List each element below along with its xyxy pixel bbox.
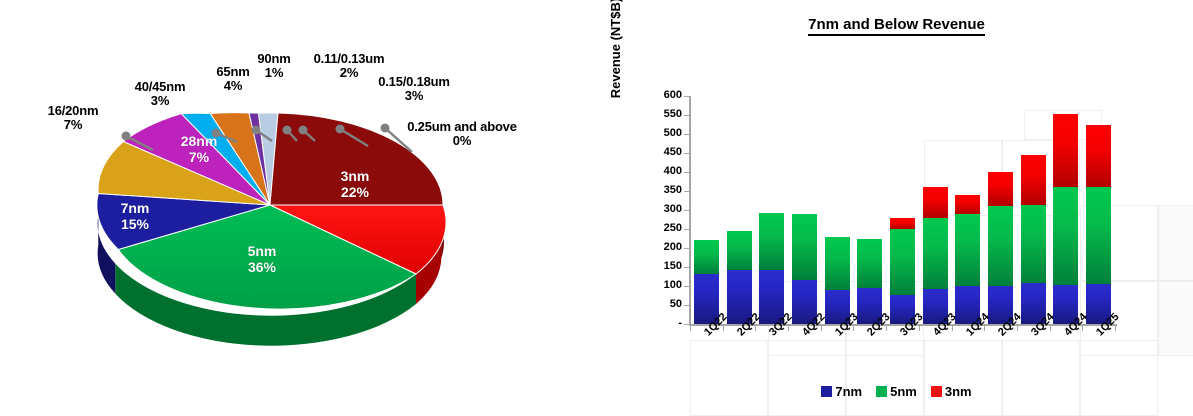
bar-1q22[interactable] <box>694 96 719 324</box>
y-tick-label: 600 <box>640 89 682 101</box>
bar-chart-title: 7nm and Below Revenue <box>600 16 1193 33</box>
bar-plot-area <box>690 96 1115 324</box>
bar-3q22[interactable] <box>759 96 784 324</box>
bar-1q24[interactable] <box>955 96 980 324</box>
bar-chart-title-text: 7nm and Below Revenue <box>808 16 985 36</box>
bar-3q23[interactable] <box>890 96 915 324</box>
x-tick-mark <box>886 326 887 331</box>
y-tick-label: 400 <box>640 165 682 177</box>
pie-label-text: 0.25um and above <box>407 119 517 134</box>
bar-segment-3nm-4q24 <box>1053 114 1078 187</box>
y-tick-label: 300 <box>640 203 682 215</box>
bar-segment-5nm-1q23 <box>825 237 850 291</box>
y-tick-label: - <box>640 317 682 329</box>
bar-3q24[interactable] <box>1021 96 1046 324</box>
y-tick-label: 50 <box>640 298 682 310</box>
pie-label-pct: 36% <box>227 259 297 275</box>
y-tick-mark <box>684 172 689 173</box>
bar-segment-5nm-2q23 <box>857 239 882 288</box>
x-tick-mark <box>853 326 854 331</box>
y-tick-mark <box>684 248 689 249</box>
y-tick-label: 450 <box>640 146 682 158</box>
bar-segment-5nm-4q23 <box>923 218 948 290</box>
y-tick-label: 250 <box>640 222 682 234</box>
x-tick-mark <box>984 326 985 331</box>
legend-label-7nm: 7nm <box>835 384 862 399</box>
pie-label-16-20nm: 16/20nm 7% <box>18 104 128 132</box>
pie-label-text: 0.15/0.18um <box>378 74 450 89</box>
y-tick-mark <box>684 210 689 211</box>
x-tick-mark <box>755 326 756 331</box>
y-tick-mark <box>684 153 689 154</box>
bar-segment-5nm-1q22 <box>694 240 719 274</box>
y-tick-label: 350 <box>640 184 682 196</box>
pie-inner-label-3nm: 3nm 22% <box>320 168 390 200</box>
pie-label-text: 28nm <box>181 133 218 149</box>
pie-label-text: 0.11/0.13um <box>314 51 385 66</box>
pie-label-pct: 7% <box>162 149 236 165</box>
bar-segment-3nm-3q23 <box>890 218 915 229</box>
y-tick-label: 550 <box>640 108 682 120</box>
bar-2q23[interactable] <box>857 96 882 324</box>
bar-segment-3nm-1q25 <box>1086 125 1111 187</box>
bar-1q23[interactable] <box>825 96 850 324</box>
y-tick-mark <box>684 115 689 116</box>
y-tick-label: 150 <box>640 260 682 272</box>
pie-label-pct: 15% <box>104 216 166 232</box>
pie-label-pct: 0% <box>370 134 554 148</box>
pie-label-text: 40/45nm <box>135 79 186 94</box>
bar-segment-3nm-2q24 <box>988 172 1013 206</box>
pie-label-text: 3nm <box>341 168 370 184</box>
pie-label-pct: 22% <box>320 184 390 200</box>
bar-segment-5nm-3q24 <box>1021 205 1046 283</box>
bar-2q24[interactable] <box>988 96 1013 324</box>
bar-1q25[interactable] <box>1086 96 1111 324</box>
x-tick-mark <box>723 326 724 331</box>
pie-label-0-25um-and-above: 0.25um and above 0% <box>370 120 554 148</box>
pie-label-pct: 4% <box>196 79 270 93</box>
y-tick-label: 200 <box>640 241 682 253</box>
seven-nm-and-below-revenue-bar-chart: 7nm and Below Revenue Revenue (NT$B) 600… <box>600 0 1193 416</box>
x-tick-mark <box>1017 326 1018 331</box>
pie-inner-label-7nm: 7nm 15% <box>104 200 166 232</box>
x-tick-mark <box>1115 326 1116 331</box>
bar-segment-3nm-3q24 <box>1021 155 1046 206</box>
legend-item-7nm[interactable]: 7nm <box>821 384 862 399</box>
bar-segment-5nm-2q22 <box>727 231 752 271</box>
bar-segment-5nm-1q24 <box>955 214 980 287</box>
x-tick-mark <box>1050 326 1051 331</box>
x-tick-mark <box>952 326 953 331</box>
bar-4q24[interactable] <box>1053 96 1078 324</box>
bar-segment-5nm-3q22 <box>759 213 784 271</box>
x-tick-mark <box>1082 326 1083 331</box>
bar-segment-3nm-4q23 <box>923 187 948 218</box>
revenue-by-technology-pie-chart: 16/20nm 7% 40/45nm 3% 65nm 4% 90nm 1% 0.… <box>0 0 600 416</box>
bar-segment-5nm-3q23 <box>890 229 915 295</box>
x-tick-mark <box>821 326 822 331</box>
y-tick-mark <box>684 134 689 135</box>
y-tick-mark <box>684 96 689 97</box>
bar-segment-5nm-1q25 <box>1086 187 1111 284</box>
bar-chart-y-axis-label: Revenue (NT$B) <box>608 0 623 118</box>
pie-label-text: 16/20nm <box>48 103 99 118</box>
bar-segment-3nm-1q24 <box>955 195 980 214</box>
bar-segment-5nm-2q24 <box>988 206 1013 287</box>
legend-swatch-7nm <box>821 386 832 397</box>
x-tick-mark <box>919 326 920 331</box>
y-tick-mark <box>684 191 689 192</box>
pie-inner-label-28nm: 28nm 7% <box>162 133 236 165</box>
legend-label-3nm: 3nm <box>945 384 972 399</box>
x-tick-mark <box>788 326 789 331</box>
y-tick-label: 500 <box>640 127 682 139</box>
legend-swatch-3nm <box>931 386 942 397</box>
y-tick-mark <box>684 267 689 268</box>
pie-label-0-15-0-18um: 0.15/0.18um 3% <box>360 75 468 103</box>
pie-label-pct: 3% <box>360 89 468 103</box>
y-tick-mark <box>684 305 689 306</box>
pie-label-text: 90nm <box>257 51 290 66</box>
pie-inner-label-5nm: 5nm 36% <box>227 243 297 275</box>
bar-4q22[interactable] <box>792 96 817 324</box>
bar-2q22[interactable] <box>727 96 752 324</box>
pie-label-text: 5nm <box>248 243 277 259</box>
y-tick-mark <box>684 286 689 287</box>
y-tick-mark <box>684 229 689 230</box>
legend-swatch-5nm <box>876 386 887 397</box>
y-tick-mark <box>684 324 689 325</box>
bar-4q23[interactable] <box>923 96 948 324</box>
x-tick-mark <box>690 326 691 331</box>
bar-segment-5nm-4q22 <box>792 214 817 280</box>
bar-chart-legend: 7nm5nm3nm <box>600 384 1193 399</box>
pie-label-text: 7nm <box>121 200 150 216</box>
y-tick-label: 100 <box>640 279 682 291</box>
legend-item-3nm[interactable]: 3nm <box>931 384 972 399</box>
pie-label-pct: 3% <box>108 94 212 108</box>
slide-canvas: 16/20nm 7% 40/45nm 3% 65nm 4% 90nm 1% 0.… <box>0 0 1193 416</box>
bar-segment-5nm-4q24 <box>1053 187 1078 285</box>
legend-item-5nm[interactable]: 5nm <box>876 384 917 399</box>
pie-label-pct: 7% <box>18 118 128 132</box>
legend-label-5nm: 5nm <box>890 384 917 399</box>
y-axis-label-text: Revenue (NT$B) <box>608 0 623 98</box>
